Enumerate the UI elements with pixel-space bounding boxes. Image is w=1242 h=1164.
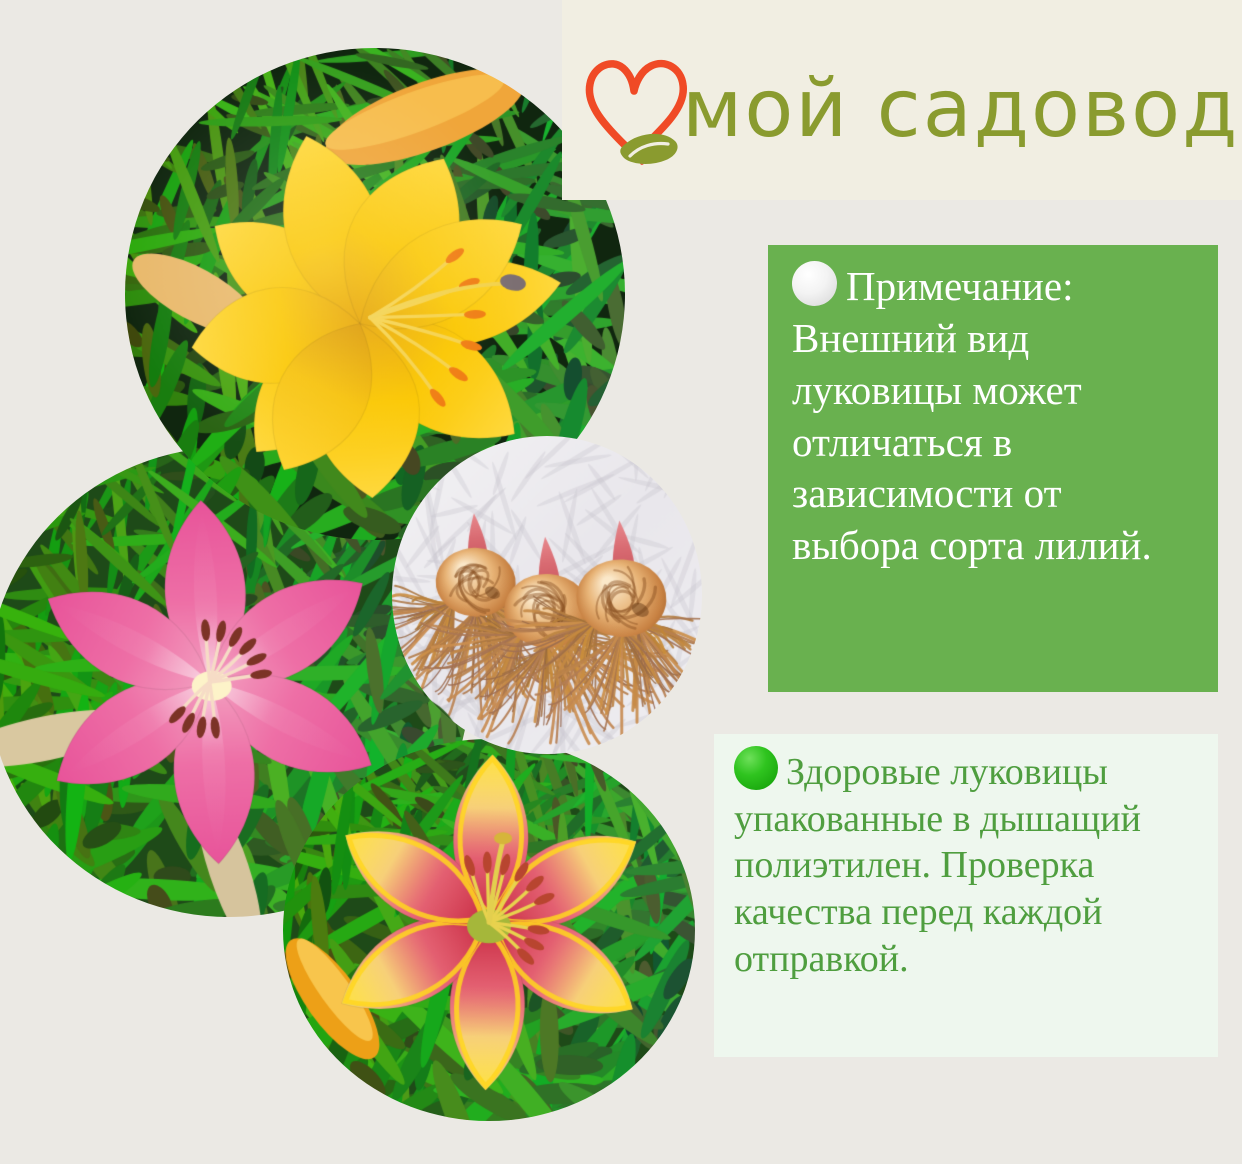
lily-bulbs-photo: [392, 436, 702, 754]
note-primary-body: Внешний вид луковицы может отличаться в …: [792, 315, 1152, 568]
note-primary-heading: Примечание:: [846, 263, 1073, 309]
brand-name: мой садовод: [682, 69, 1239, 149]
promo-page: мой садовод Примечание: Внешний вид луко…: [0, 0, 1242, 1164]
green-circle-bullet-icon: [734, 746, 778, 790]
leaf-icon: [580, 46, 698, 171]
note-secondary-text: Здоровые луковицы упакованные в дышащий …: [734, 746, 1200, 983]
note-box-primary: Примечание: Внешний вид луковицы может о…: [768, 245, 1218, 692]
white-circle-bullet-icon: [792, 261, 837, 306]
note-secondary-body: Здоровые луковицы упакованные в дышащий …: [734, 751, 1141, 980]
note-box-secondary: Здоровые луковицы упакованные в дышащий …: [714, 734, 1218, 1057]
red-yellow-lily-photo: [283, 739, 695, 1121]
brand-logo: мой садовод: [580, 46, 1239, 171]
brand-logo-panel: мой садовод: [562, 0, 1242, 200]
note-primary-text: Примечание: Внешний вид луковицы может о…: [792, 261, 1196, 572]
heart-leaf-logo-mark: [580, 46, 698, 171]
